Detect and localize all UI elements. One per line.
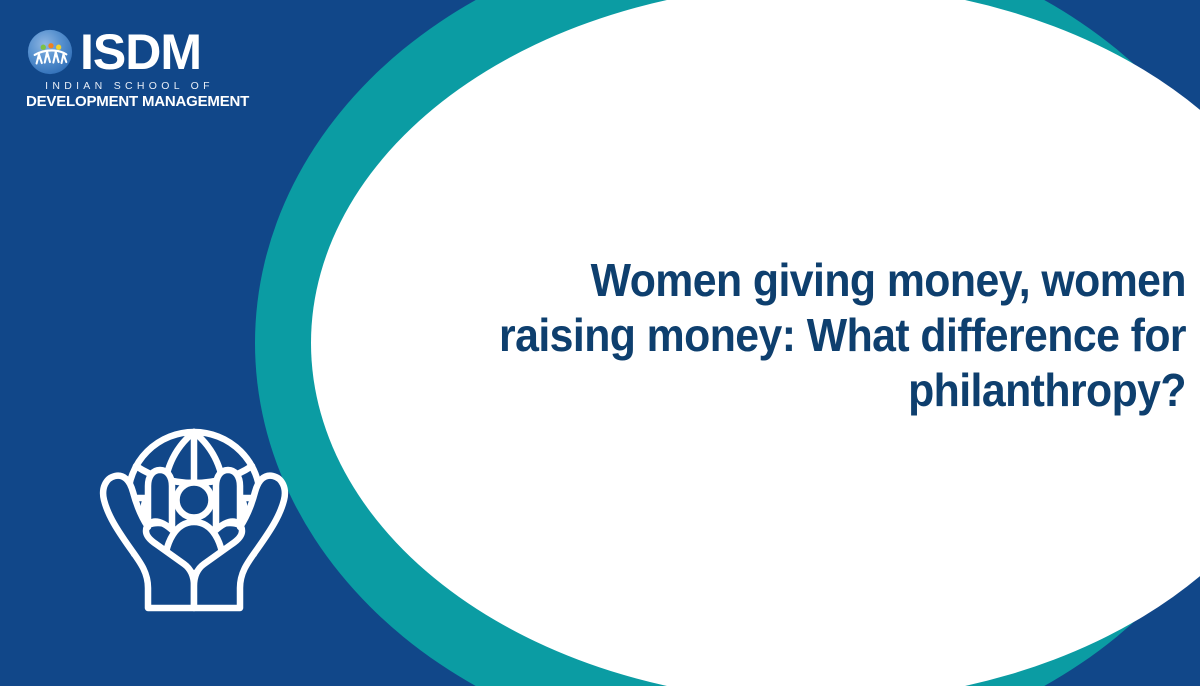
logo-wordmark: ISDM	[80, 27, 201, 77]
event-banner: ISDM INDIAN SCHOOL OF DEVELOPMENT MANAGE…	[0, 0, 1200, 686]
page-title: Women giving money, women raising money:…	[470, 253, 1186, 418]
hands-holding-globe-with-people-icon	[88, 412, 300, 624]
logo-tagline-line-1: INDIAN SCHOOL OF	[26, 80, 233, 93]
globe-people-icon	[26, 28, 74, 76]
logo-tagline-line-2: DEVELOPMENT MANAGEMENT	[26, 93, 233, 110]
logo-primary-row: ISDM	[26, 24, 241, 80]
isdm-logo: ISDM INDIAN SCHOOL OF DEVELOPMENT MANAGE…	[26, 24, 241, 110]
